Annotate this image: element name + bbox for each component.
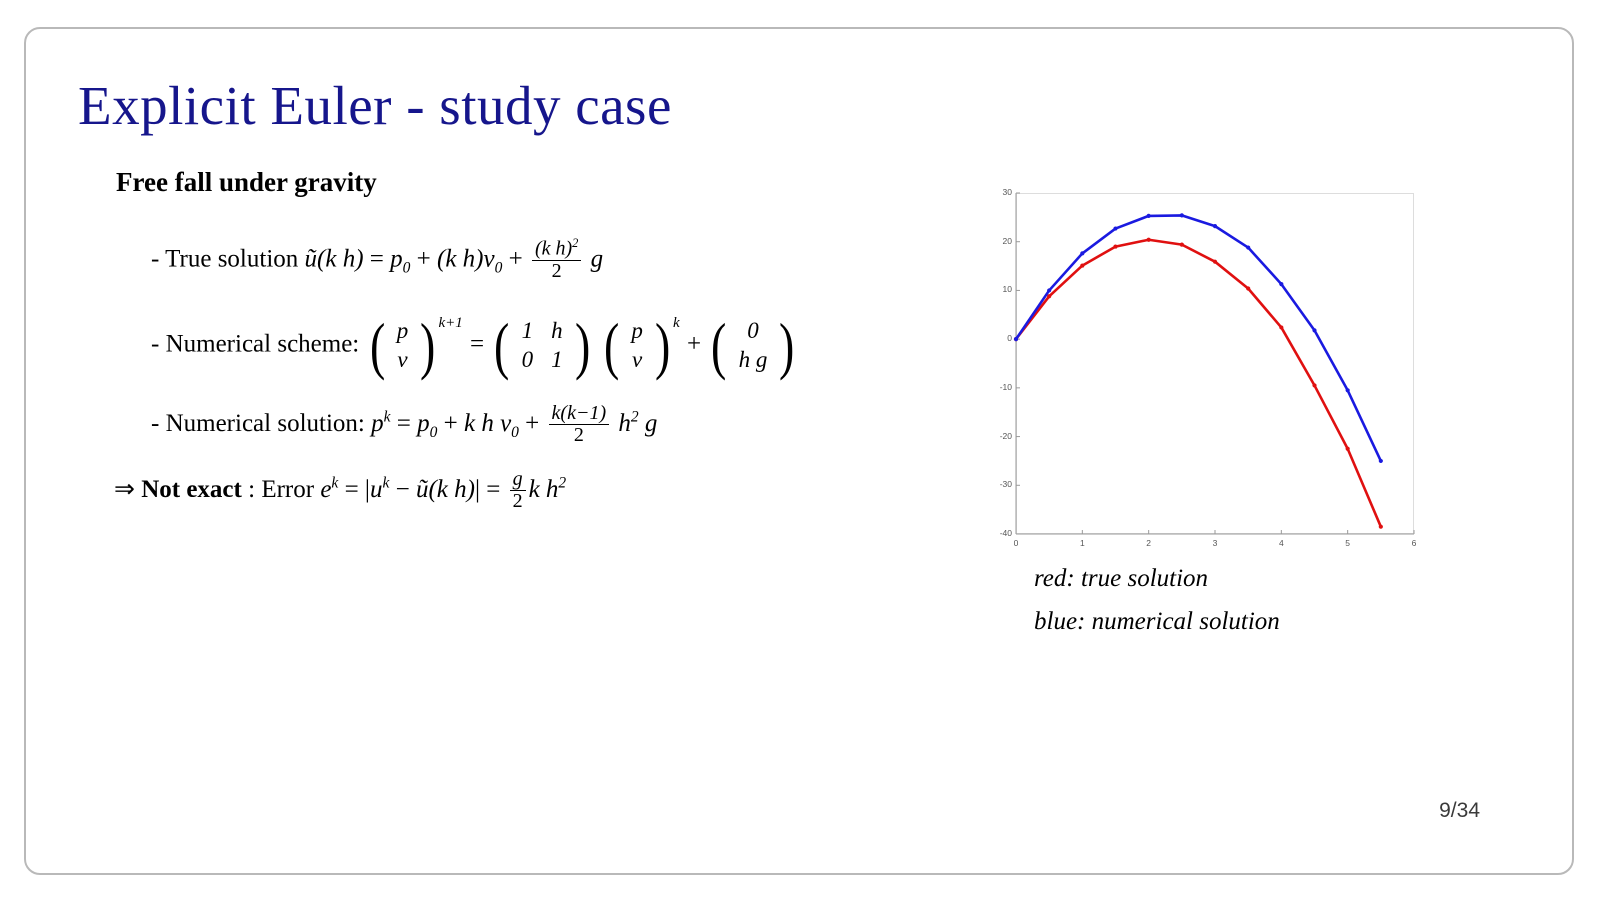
p0-symbol: p	[417, 410, 430, 437]
bullet-dash: -	[151, 410, 159, 437]
data-point-marker	[1346, 388, 1350, 392]
bullet-not-exact-error: ⇒ Not exact : Error ek = |uk − ũ(k h)| =…	[114, 469, 566, 512]
data-point-marker	[1014, 337, 1018, 341]
y-axis-tick-label: -40	[986, 528, 1012, 538]
y-axis-tick-label: -20	[986, 431, 1012, 441]
plot-svg	[1001, 179, 1426, 549]
column-vector-pv-k-plus-1: (pv)k+1	[367, 317, 463, 375]
vector-exponent: k	[673, 315, 680, 332]
data-point-marker	[1213, 224, 1217, 228]
page-number: 9/34	[1439, 799, 1480, 823]
x-axis-tick-label: 1	[1073, 538, 1091, 548]
data-point-marker	[1246, 286, 1250, 290]
p-symbol: p	[390, 245, 403, 272]
data-point-marker	[1312, 328, 1316, 332]
bullet-numerical-scheme: - Numerical scheme: (pv)k+1 = (1h01) (pv…	[151, 317, 799, 375]
left-paren-icon: (	[604, 326, 619, 366]
data-point-marker	[1279, 325, 1283, 329]
plus-sign-2: +	[525, 410, 539, 437]
v-subscript: 0	[495, 259, 503, 276]
vector-top-entry: p	[388, 317, 418, 346]
plus-sign-2: +	[509, 245, 523, 272]
u-argument: (k h)	[317, 245, 364, 272]
fraction-denominator: 2	[549, 425, 610, 446]
slide-frame: Explicit Euler - study case Free fall un…	[24, 27, 1574, 875]
chart-caption: red: true solution blue: numerical solut…	[1034, 557, 1280, 643]
data-point-marker	[1147, 238, 1151, 242]
v-symbol: v	[484, 245, 495, 272]
u-argument: (k h)	[428, 476, 475, 503]
p-subscript: 0	[403, 259, 411, 276]
not-exact-label: Not exact	[141, 476, 242, 503]
fraction-k-k-minus-1-over-2: k(k−1) 2	[549, 403, 610, 446]
matrix-entry-11: 1	[513, 317, 543, 346]
data-point-marker	[1246, 245, 1250, 249]
vector-top-entry: 0	[730, 317, 777, 346]
data-point-marker	[1147, 214, 1151, 218]
equals-sign: =	[397, 410, 411, 437]
column-vector-pv-k: (pv)k	[601, 317, 680, 375]
implies-arrow-icon: ⇒	[114, 476, 135, 503]
plus-sign-1: +	[444, 410, 458, 437]
equals-sign-2: =	[486, 476, 500, 503]
x-axis-tick-label: 0	[1007, 538, 1025, 548]
y-axis-tick-label: -10	[986, 382, 1012, 392]
section-heading: Free fall under gravity	[116, 167, 377, 198]
equals-sign: =	[370, 245, 384, 272]
colon-separator: :	[248, 476, 255, 503]
data-point-marker	[1379, 525, 1383, 529]
vector-bottom-entry: v	[388, 346, 418, 375]
p-exponent: k	[384, 408, 391, 425]
x-axis-tick-label: 4	[1272, 538, 1290, 548]
p0-subscript: 0	[430, 424, 438, 441]
x-axis-tick-label: 2	[1140, 538, 1158, 548]
fraction-g-over-2: g 2	[510, 469, 526, 512]
right-paren-icon: )	[779, 326, 794, 366]
bullet-label: Numerical scheme:	[166, 330, 360, 357]
minus-sign: −	[396, 476, 410, 503]
u-exponent: k	[382, 474, 389, 491]
data-point-marker	[1279, 282, 1283, 286]
data-point-marker	[1113, 226, 1117, 230]
free-fall-chart: 3020100-10-20-30-400123456	[1001, 179, 1426, 549]
vector-exponent: k+1	[438, 315, 462, 332]
g-symbol: g	[645, 410, 658, 437]
bullet-label: True solution	[165, 245, 298, 272]
page-title: Explicit Euler - study case	[78, 74, 672, 137]
fraction-kh-squared-over-2: (k h)2 2	[532, 237, 581, 282]
u-tilde-symbol: ũ	[416, 476, 429, 503]
vector-bottom-entry: v	[622, 346, 652, 375]
fraction-numerator-exponent: 2	[572, 236, 578, 250]
bullet-true-solution: - True solution ũ(k h) = p0 + (k h)v0 + …	[151, 237, 603, 282]
left-paren-icon: (	[494, 326, 509, 366]
y-axis-tick-label: 0	[986, 333, 1012, 343]
caption-line-blue: blue: numerical solution	[1034, 600, 1280, 643]
caption-line-red: red: true solution	[1034, 557, 1280, 600]
data-point-marker	[1312, 383, 1316, 387]
k-symbol: k	[529, 476, 540, 503]
right-paren-icon: )	[575, 326, 590, 366]
matrix-2x2: (1h01)	[491, 317, 592, 375]
x-axis-tick-label: 6	[1405, 538, 1423, 548]
e-exponent: k	[331, 474, 338, 491]
y-axis-tick-label: -30	[986, 479, 1012, 489]
p-symbol: p	[371, 410, 384, 437]
right-paren-icon: )	[655, 326, 670, 366]
fraction-numerator: k(k−1)	[549, 403, 610, 425]
vector-top-entry: p	[622, 317, 652, 346]
h-exponent: 2	[558, 474, 566, 491]
h-symbol: h	[618, 410, 631, 437]
left-paren-icon: (	[369, 326, 384, 366]
data-point-marker	[1180, 243, 1184, 247]
bullet-numerical-solution: - Numerical solution: pk = p0 + k h v0 +…	[151, 403, 657, 446]
bullet-dash: -	[151, 245, 159, 272]
plus-sign: +	[687, 330, 701, 357]
data-point-marker	[1180, 213, 1184, 217]
y-axis-tick-label: 10	[986, 284, 1012, 294]
equals-sign-1: =	[345, 476, 359, 503]
x-axis-tick-label: 3	[1206, 538, 1224, 548]
bullet-label: Numerical solution:	[166, 410, 365, 437]
x-axis-tick-label: 5	[1339, 538, 1357, 548]
abs-bar-close: |	[475, 476, 480, 503]
data-point-marker	[1346, 447, 1350, 451]
h-exponent: 2	[631, 408, 639, 425]
u-tilde-symbol: ũ	[305, 245, 318, 272]
data-point-marker	[1213, 260, 1217, 264]
right-paren-icon: )	[420, 326, 435, 366]
data-point-marker	[1379, 459, 1383, 463]
matrix-entry-12: h	[542, 317, 572, 346]
left-paren-icon: (	[711, 326, 726, 366]
vector-bottom-entry: h g	[730, 346, 777, 375]
matrix-entry-22: 1	[542, 346, 572, 375]
fraction-numerator: (k h)	[535, 238, 572, 260]
y-axis-tick-label: 20	[986, 236, 1012, 246]
v-subscript: 0	[511, 424, 519, 441]
fraction-denominator: 2	[510, 491, 526, 512]
fraction-numerator: g	[510, 469, 526, 491]
fraction-denominator: 2	[532, 261, 581, 282]
data-point-marker	[1080, 263, 1084, 267]
kh-term: (k h)	[437, 245, 484, 272]
error-label: Error	[261, 476, 314, 503]
equals-sign: =	[470, 330, 484, 357]
column-vector-forcing: (0h g)	[708, 317, 797, 375]
matrix-entry-21: 0	[513, 346, 543, 375]
data-point-marker	[1113, 244, 1117, 248]
h-symbol: h	[546, 476, 559, 503]
data-point-marker	[1080, 251, 1084, 255]
bullet-dash: -	[151, 330, 159, 357]
y-axis-tick-label: 30	[986, 187, 1012, 197]
data-point-marker	[1047, 288, 1051, 292]
khv-term: k h v	[464, 410, 511, 437]
u-symbol: u	[370, 476, 383, 503]
series-line-true-solution	[1016, 240, 1381, 527]
g-symbol: g	[591, 245, 604, 272]
plus-sign-1: +	[417, 245, 431, 272]
e-symbol: e	[320, 476, 331, 503]
